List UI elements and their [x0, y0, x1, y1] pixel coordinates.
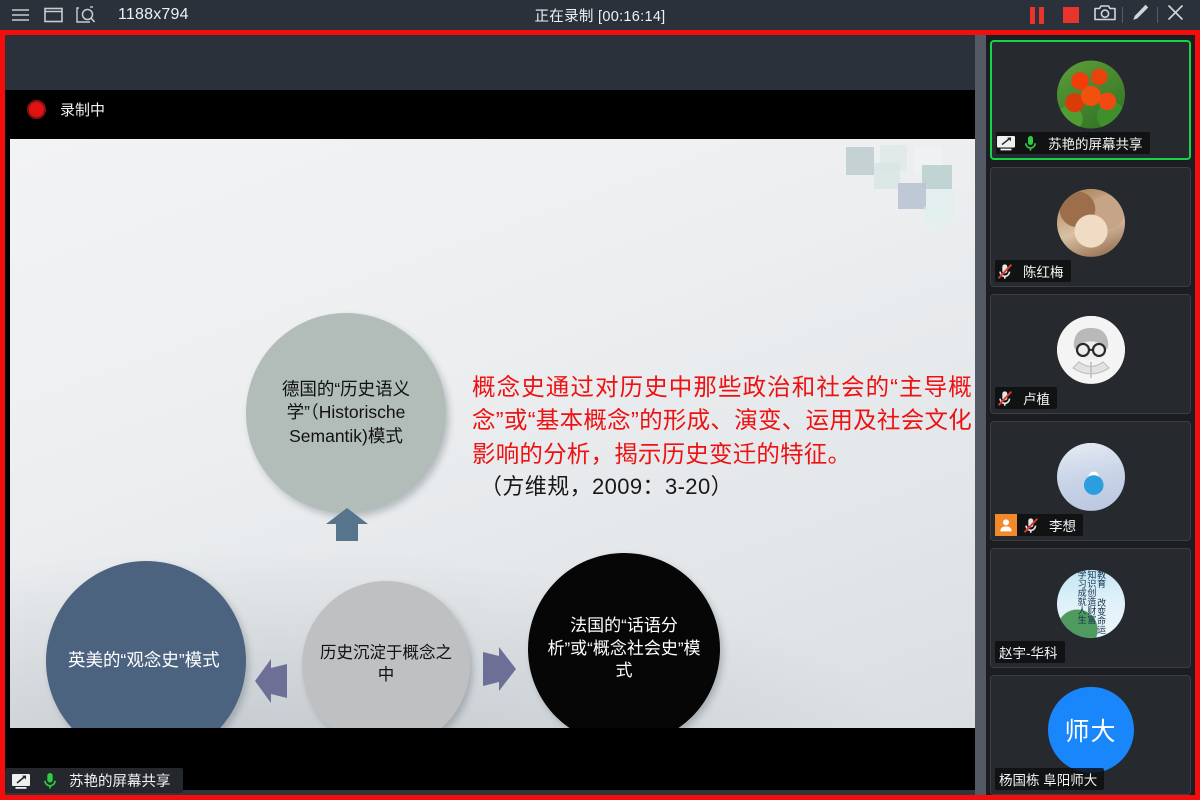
participant-card[interactable]: 李想 — [990, 421, 1191, 541]
avatar — [1057, 316, 1125, 384]
recorder-toolbar: 1188x794 正在录制 [00:16:14] — [0, 0, 1200, 30]
avatar: 师大 — [1048, 687, 1134, 773]
pause-button[interactable] — [1020, 0, 1054, 30]
participant-card[interactable]: 陈红梅 — [990, 167, 1191, 287]
screenshot-button[interactable] — [1088, 0, 1122, 30]
avatar-text: 教育 改变命运 知识创造财富 学习成就人生 — [1057, 570, 1125, 638]
microphone-muted-icon — [995, 261, 1015, 281]
hamburger-menu-icon[interactable] — [9, 4, 31, 26]
close-button[interactable] — [1158, 0, 1192, 30]
microphone-muted-icon — [1021, 515, 1041, 535]
avatar — [1057, 61, 1125, 129]
window-frame-icon[interactable] — [42, 4, 64, 26]
participant-card[interactable]: 教育 改变命运 知识创造财富 学习成就人生 赵宇-华科 — [990, 548, 1191, 668]
participant-label: 杨国栋 阜阳师大 — [995, 768, 1104, 790]
participant-card[interactable]: 卢植 — [990, 294, 1191, 414]
close-icon — [1167, 4, 1184, 26]
slide-circle-germany: 德国的“历史语义学”（Historische Semantik)模式 — [246, 313, 446, 513]
recording-dot-icon — [27, 100, 46, 119]
toolbar-right-group — [1020, 0, 1200, 30]
avatar-initials: 师大 — [1064, 712, 1116, 748]
participant-label: 卢植 — [995, 387, 1057, 409]
participant-label: 陈红梅 — [995, 260, 1071, 282]
participant-label: 李想 — [995, 514, 1083, 536]
participant-name: 杨国栋 阜阳师大 — [995, 769, 1097, 789]
inner-recording-label: 录制中 — [60, 99, 105, 120]
participant-name: 陈红梅 — [1019, 261, 1064, 281]
participant-label: 苏艳的屏幕共享 — [996, 132, 1150, 154]
stop-button[interactable] — [1054, 0, 1088, 30]
participant-card[interactable]: 苏艳的屏幕共享 — [990, 40, 1191, 160]
microphone-on-icon — [40, 771, 60, 791]
slide-red-paragraph: 概念史通过对历史中那些政治和社会的“主导概念”或“基本概念”的形成、演变、运用及… — [472, 371, 972, 471]
participant-name: 卢植 — [1019, 388, 1050, 408]
participant-thumbnail-panel[interactable]: 苏艳的屏幕共享 陈红梅 — [986, 35, 1195, 795]
arrow-up-icon — [324, 507, 370, 548]
decorative-mosaic-pattern — [868, 139, 978, 229]
screen-share-icon — [11, 771, 31, 791]
shared-screen-name-label: 苏艳的屏幕共享 — [5, 768, 183, 793]
presentation-slide: 德国的“历史语义学”（Historische Semantik)模式 英美的“观… — [10, 139, 978, 728]
slide-citation: （方维规，2009：3-20） — [480, 469, 970, 501]
shared-screen-video[interactable]: 录制中 德国的“历史语义学”（Historische Semantik)模式 英… — [5, 35, 980, 795]
stop-icon — [1063, 7, 1079, 23]
inner-app-titlebar — [5, 35, 980, 90]
annotate-button[interactable] — [1123, 0, 1157, 30]
region-select-icon[interactable] — [75, 4, 97, 26]
screen-share-icon — [996, 133, 1016, 153]
participant-label: 赵宇-华科 — [995, 641, 1065, 663]
participant-card[interactable]: 师大 杨国栋 阜阳师大 — [990, 675, 1191, 795]
participant-name: 苏艳的屏幕共享 — [1044, 133, 1143, 153]
arrow-left-icon — [253, 657, 289, 710]
shared-screen-name-text: 苏艳的屏幕共享 — [69, 770, 171, 791]
pause-icon — [1030, 7, 1044, 24]
host-badge-icon — [995, 514, 1017, 536]
microphone-muted-icon — [995, 388, 1015, 408]
participant-name: 赵宇-华科 — [995, 642, 1058, 662]
inner-recording-badge: 录制中 — [27, 90, 980, 129]
capture-dimensions: 1188x794 — [118, 6, 189, 24]
camera-icon — [1094, 4, 1116, 26]
avatar — [1057, 189, 1125, 257]
avatar: 教育 改变命运 知识创造财富 学习成就人生 — [1057, 570, 1125, 638]
microphone-on-icon — [1020, 133, 1040, 153]
avatar — [1057, 443, 1125, 511]
toolbar-left-group: 1188x794 — [0, 4, 189, 26]
panel-divider-scrollbar[interactable] — [975, 35, 986, 795]
arrow-right-icon — [480, 644, 518, 699]
pencil-icon — [1131, 3, 1150, 27]
participant-name: 李想 — [1045, 515, 1076, 535]
